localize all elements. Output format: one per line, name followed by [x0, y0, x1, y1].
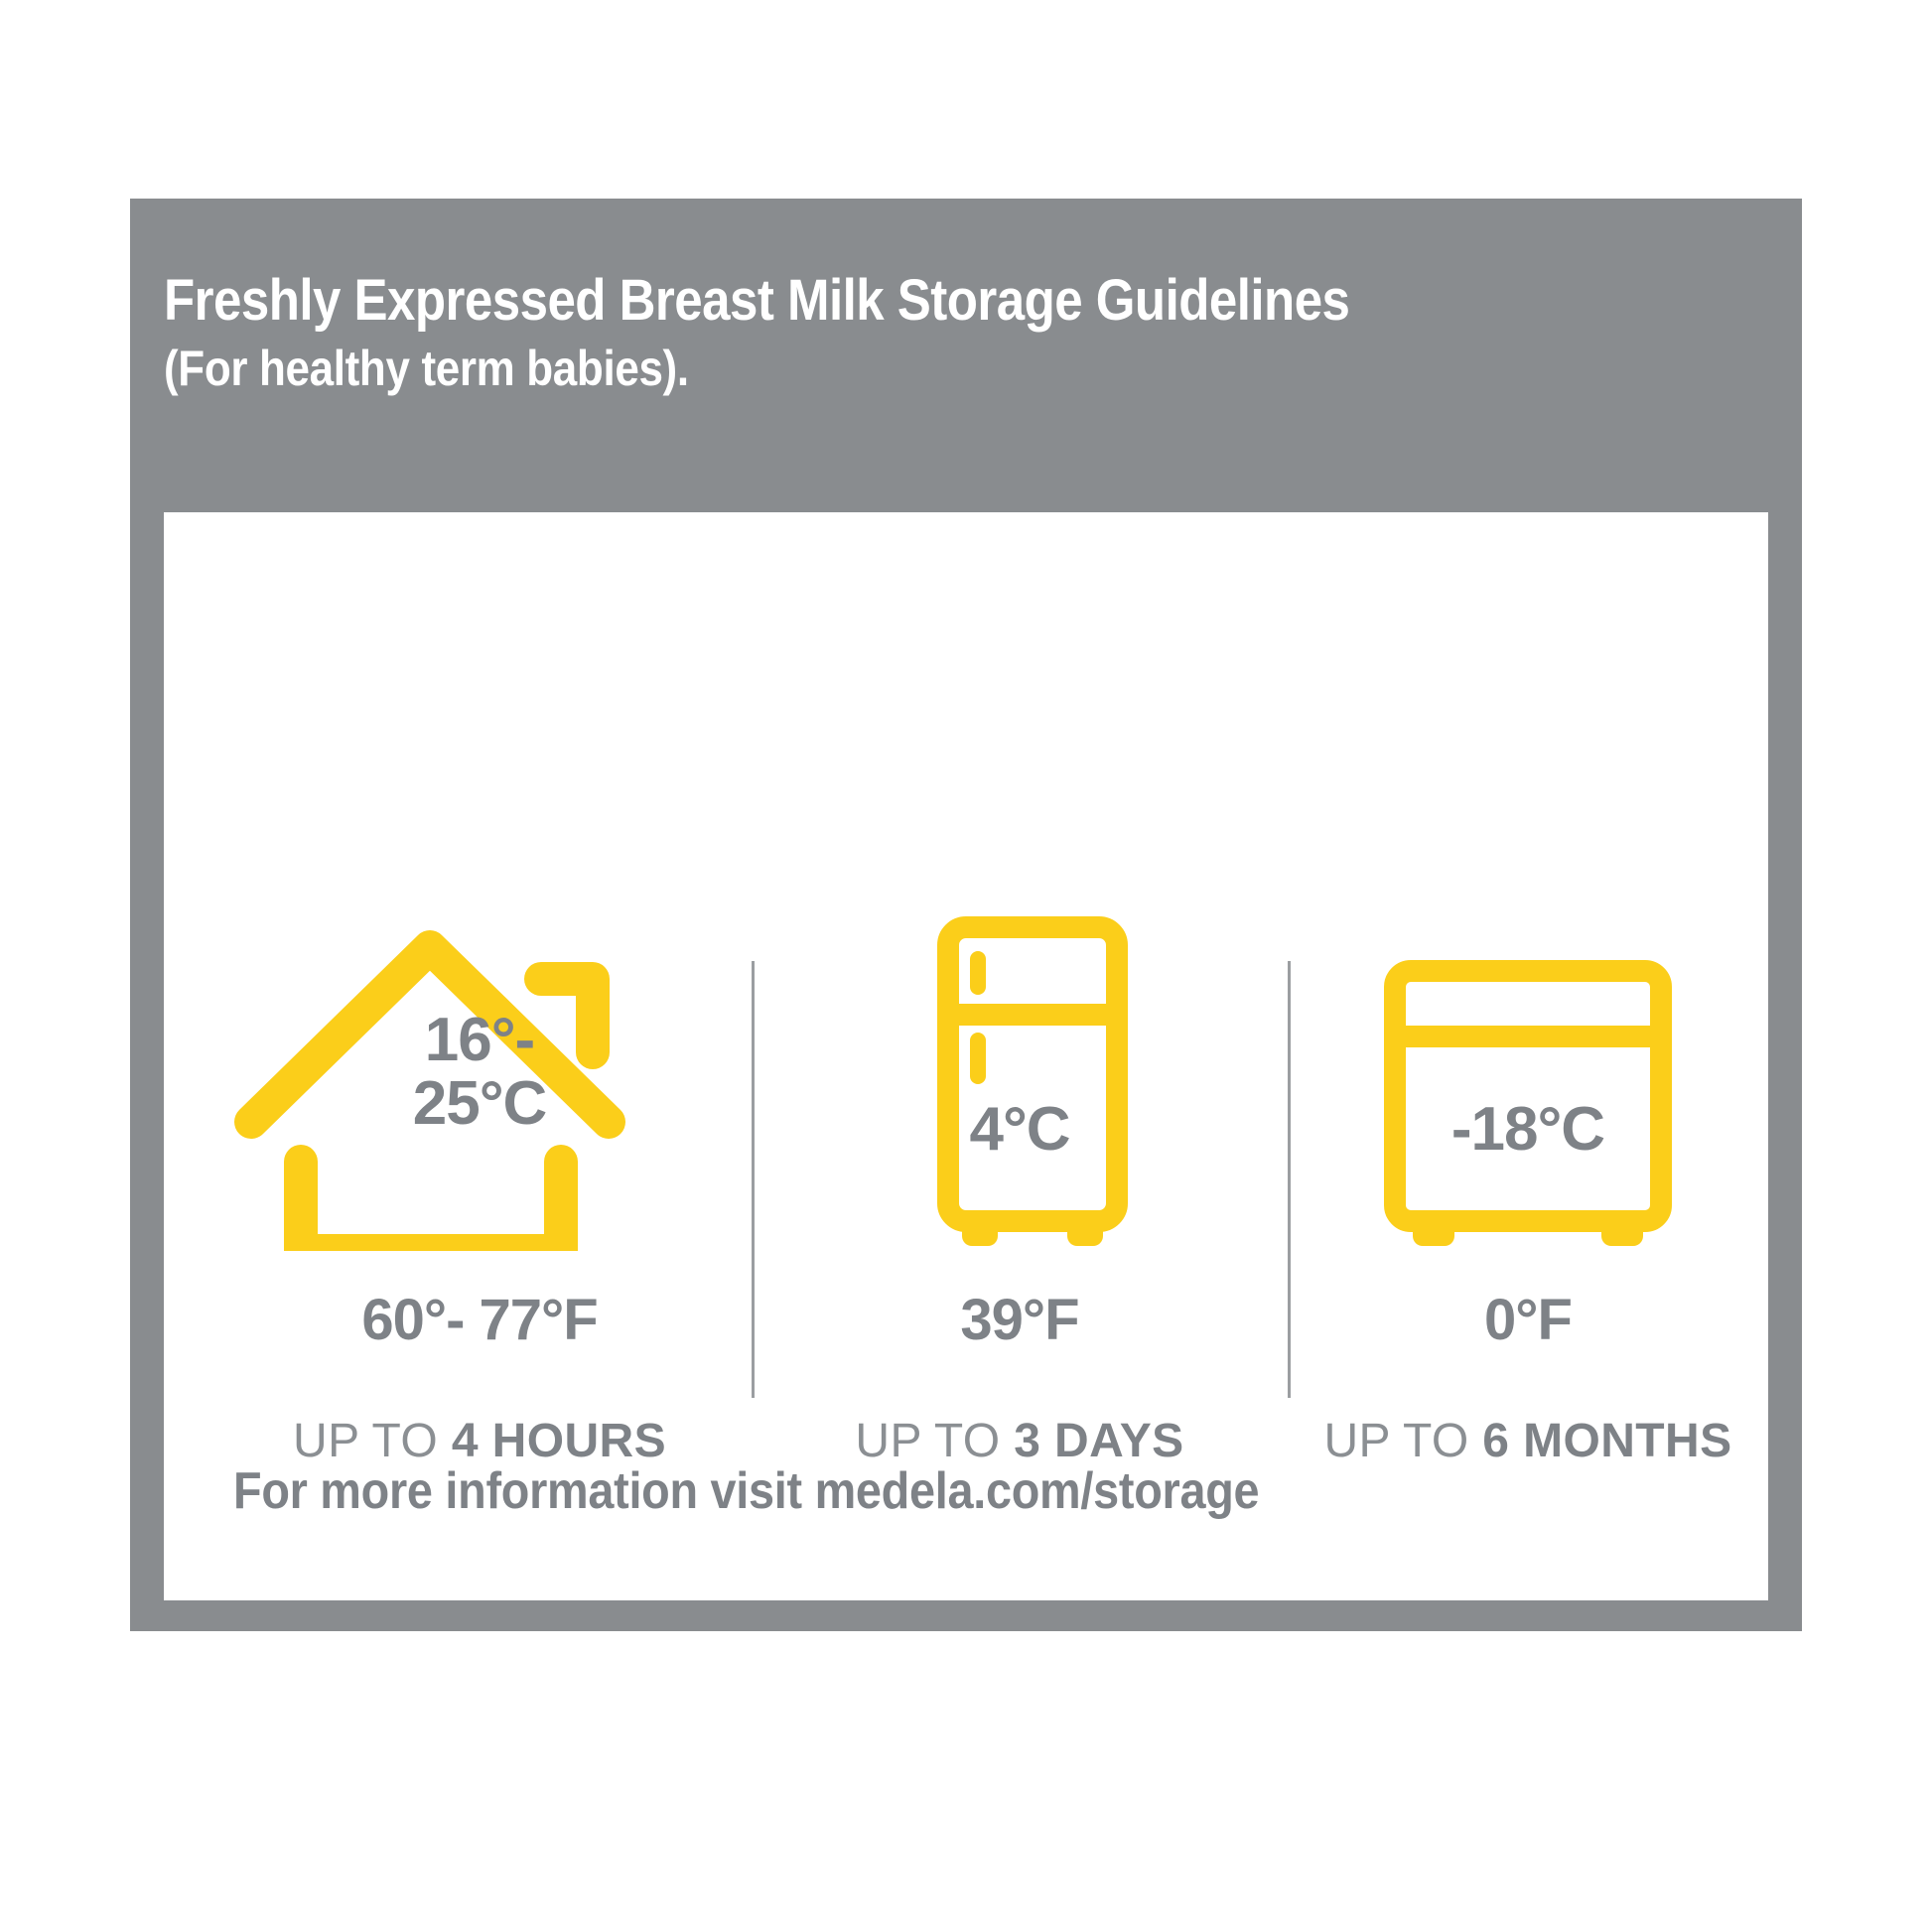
duration-label: UP TO 6 MONTHS: [1288, 1414, 1768, 1468]
temperature-celsius: 16°- 25°C: [350, 1009, 609, 1137]
refrigerator-icon-stage: [752, 913, 1288, 1251]
duration-prefix: UP TO: [855, 1415, 1014, 1467]
page-title: Freshly Expressed Breast Milk Storage Gu…: [164, 270, 1576, 331]
duration-value: 3 DAYS: [1014, 1415, 1183, 1467]
page-subtitle: (For healthy term babies).: [164, 341, 1576, 396]
storage-guidelines-card: Freshly Expressed Breast Milk Storage Gu…: [130, 199, 1802, 1631]
freezer-icon: [1288, 913, 1768, 1251]
more-information-text: For more information visit medela.com/st…: [233, 1461, 1259, 1521]
duration-value: 4 HOURS: [452, 1415, 666, 1467]
temperature-fahrenheit: 0°F: [1288, 1287, 1768, 1353]
temperature-celsius: -18°C: [1288, 1098, 1768, 1162]
storage-column-freezer: -18°C 0°F UP TO 6 MONTHS: [1288, 512, 1768, 1600]
refrigerator-icon: [752, 913, 1288, 1251]
storage-column-refrigerator: 4°C 39°F UP TO 3 DAYS: [752, 512, 1288, 1600]
freezer-icon-stage: [1288, 913, 1768, 1251]
temperature-celsius: 4°C: [752, 1098, 1288, 1162]
temperature-fahrenheit: 60°- 77°F: [192, 1287, 759, 1353]
duration-label: UP TO 4 HOURS: [192, 1414, 759, 1468]
duration-label: UP TO 3 DAYS: [752, 1414, 1288, 1468]
duration-value: 6 MONTHS: [1482, 1415, 1731, 1467]
storage-column-room-temperature: 16°- 25°C 60°- 77°F UP TO 4 HOURS: [192, 512, 752, 1600]
duration-prefix: UP TO: [1323, 1415, 1482, 1467]
content-panel: 16°- 25°C 60°- 77°F UP TO 4 HOURS: [164, 512, 1768, 1600]
temperature-fahrenheit: 39°F: [752, 1287, 1288, 1353]
duration-prefix: UP TO: [293, 1415, 452, 1467]
card-header: Freshly Expressed Breast Milk Storage Gu…: [164, 199, 1768, 512]
storage-columns: 16°- 25°C 60°- 77°F UP TO 4 HOURS: [164, 512, 1768, 1600]
